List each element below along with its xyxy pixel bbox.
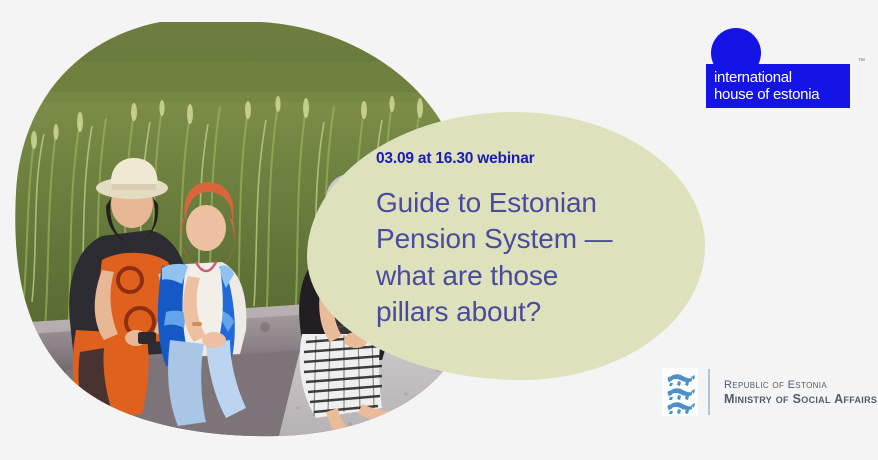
ministry-line-2: Ministry of Social Affairs — [724, 392, 877, 407]
logo-wordmark-line-1: international — [714, 69, 850, 86]
promo-text-block: 03.09 at 16.30 webinar Guide to Estonian… — [376, 150, 676, 331]
logo-wordmark-box: international house of estonia — [706, 64, 850, 108]
ministry-line-1: Republic of Estonia — [724, 378, 877, 392]
headline-line-2: Pension System — — [376, 221, 676, 257]
headline-line-1: Guide to Estonian — [376, 185, 676, 221]
logo-wordmark-line-2: house of estonia — [714, 86, 850, 103]
three-lions-shield-icon — [662, 368, 698, 416]
headline-line-4: pillars about? — [376, 294, 676, 330]
ministry-wordmark: Republic of Estonia Ministry of Social A… — [724, 378, 877, 407]
logo-divider — [708, 369, 710, 415]
event-datetime-label: 03.09 at 16.30 webinar — [376, 150, 676, 168]
ministry-of-social-affairs-logo: Republic of Estonia Ministry of Social A… — [662, 368, 877, 416]
international-house-of-estonia-logo: international house of estonia ™ — [706, 28, 856, 108]
page-title: Guide to Estonian Pension System — what … — [376, 185, 676, 331]
promo-banner: 03.09 at 16.30 webinar Guide to Estonian… — [0, 0, 878, 460]
trademark-symbol: ™ — [858, 58, 865, 65]
headline-line-3: what are those — [376, 258, 676, 294]
